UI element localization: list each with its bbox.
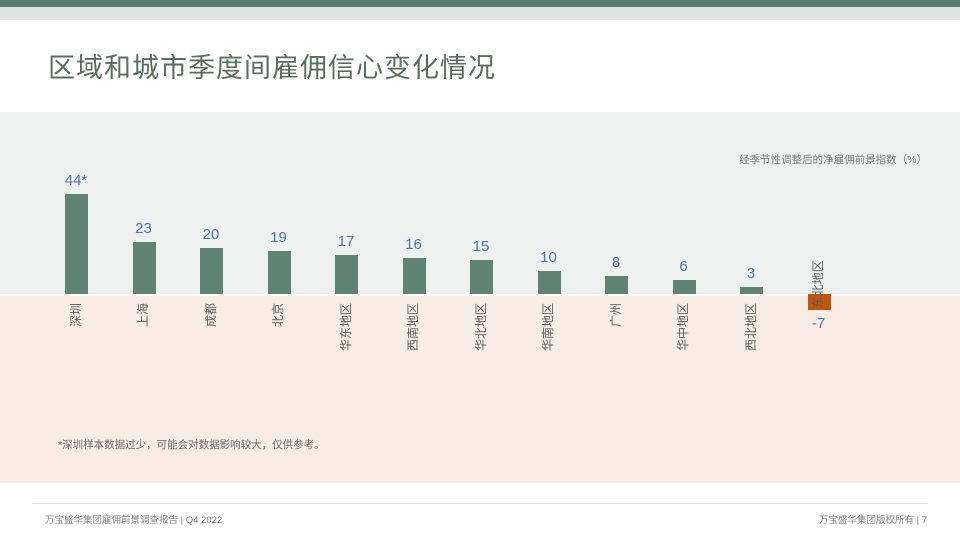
category-label: 东北地区 bbox=[786, 259, 852, 309]
bar-value-label: 23 bbox=[111, 220, 177, 237]
bar-positive bbox=[538, 271, 561, 294]
footer-divider bbox=[32, 503, 928, 504]
bar-group: 44*深圳 bbox=[43, 112, 109, 483]
category-label-text: 北京 bbox=[270, 303, 286, 327]
footer-left-text: 万宝盛华集团雇佣前景调查报告 | Q4 2022 bbox=[45, 512, 222, 526]
chart-footnote: *深圳样本数据过少，可能会对数据影响较大，仅供参考。 bbox=[58, 437, 325, 452]
category-label-text: 华北地区 bbox=[473, 303, 489, 351]
category-label: 上海 bbox=[111, 307, 177, 323]
category-label-text: 华东地区 bbox=[338, 303, 354, 351]
category-label: 华南地区 bbox=[516, 319, 582, 335]
footer-right-text: 万宝盛华集团版权所有 | 7 bbox=[819, 512, 927, 526]
bar-positive bbox=[740, 287, 763, 294]
bar-group: 6华中地区 bbox=[651, 112, 717, 483]
bar-group: 15华北地区 bbox=[448, 112, 514, 483]
bar-group: 23上海 bbox=[111, 112, 177, 483]
bar-value-label: 44* bbox=[43, 172, 109, 189]
bar-value-label: 15 bbox=[448, 238, 514, 255]
bar-group: 19北京 bbox=[246, 112, 312, 483]
category-label-text: 东北地区 bbox=[793, 260, 843, 308]
bar-value-label: 6 bbox=[651, 258, 717, 275]
top-accent-bar-dark bbox=[0, 0, 960, 7]
bar-value-label: 3 bbox=[718, 265, 784, 282]
bar-positive bbox=[133, 242, 156, 294]
bar-value-label: 19 bbox=[246, 229, 312, 246]
category-label-text: 华中地区 bbox=[675, 303, 691, 351]
category-label: 华北地区 bbox=[448, 319, 514, 335]
bar-positive bbox=[200, 248, 223, 294]
bar-group: -7东北地区 bbox=[786, 112, 852, 483]
bar-positive bbox=[268, 251, 291, 294]
category-label-text: 西南地区 bbox=[405, 303, 421, 351]
category-label-text: 西北地区 bbox=[743, 303, 759, 351]
category-label-text: 上海 bbox=[135, 303, 151, 327]
category-label: 华东地区 bbox=[313, 319, 379, 335]
bar-positive bbox=[335, 255, 358, 294]
category-label: 西北地区 bbox=[718, 319, 784, 335]
category-label: 广州 bbox=[583, 307, 649, 323]
top-accent-bar-light bbox=[0, 7, 960, 20]
category-label: 成都 bbox=[178, 307, 244, 323]
bar-group: 3西北地区 bbox=[718, 112, 784, 483]
category-label: 深圳 bbox=[43, 307, 109, 323]
category-label: 华中地区 bbox=[651, 319, 717, 335]
bar-group: 20成都 bbox=[178, 112, 244, 483]
bar-positive bbox=[605, 276, 628, 294]
bar-chart-plot: 44*深圳23上海20成都19北京17华东地区16西南地区15华北地区10华南地… bbox=[0, 112, 960, 483]
bar-positive bbox=[673, 280, 696, 294]
bar-group: 10华南地区 bbox=[516, 112, 582, 483]
bar-positive bbox=[403, 258, 426, 294]
bar-group: 16西南地区 bbox=[381, 112, 447, 483]
category-label: 西南地区 bbox=[381, 319, 447, 335]
category-label-text: 广州 bbox=[608, 303, 624, 327]
category-label-text: 成都 bbox=[203, 303, 219, 327]
chart-panel: 经季节性调整后的净雇佣前景指数（%） 44*深圳23上海20成都19北京17华东… bbox=[0, 112, 960, 483]
slide: 区域和城市季度间雇佣信心变化情况 经季节性调整后的净雇佣前景指数（%） 44*深… bbox=[0, 0, 960, 540]
bar-group: 8广州 bbox=[583, 112, 649, 483]
bar-value-label: 20 bbox=[178, 226, 244, 243]
page-title: 区域和城市季度间雇佣信心变化情况 bbox=[48, 46, 496, 85]
bar-positive bbox=[470, 260, 493, 294]
bar-value-label: -7 bbox=[786, 315, 852, 332]
category-label-text: 深圳 bbox=[68, 303, 84, 327]
bar-value-label: 16 bbox=[381, 236, 447, 253]
bar-value-label: 10 bbox=[516, 249, 582, 266]
bar-group: 17华东地区 bbox=[313, 112, 379, 483]
category-label: 北京 bbox=[246, 307, 312, 323]
bar-value-label: 17 bbox=[313, 233, 379, 250]
category-label-text: 华南地区 bbox=[540, 303, 556, 351]
bar-value-label: 8 bbox=[583, 254, 649, 271]
bar-positive bbox=[65, 194, 88, 294]
